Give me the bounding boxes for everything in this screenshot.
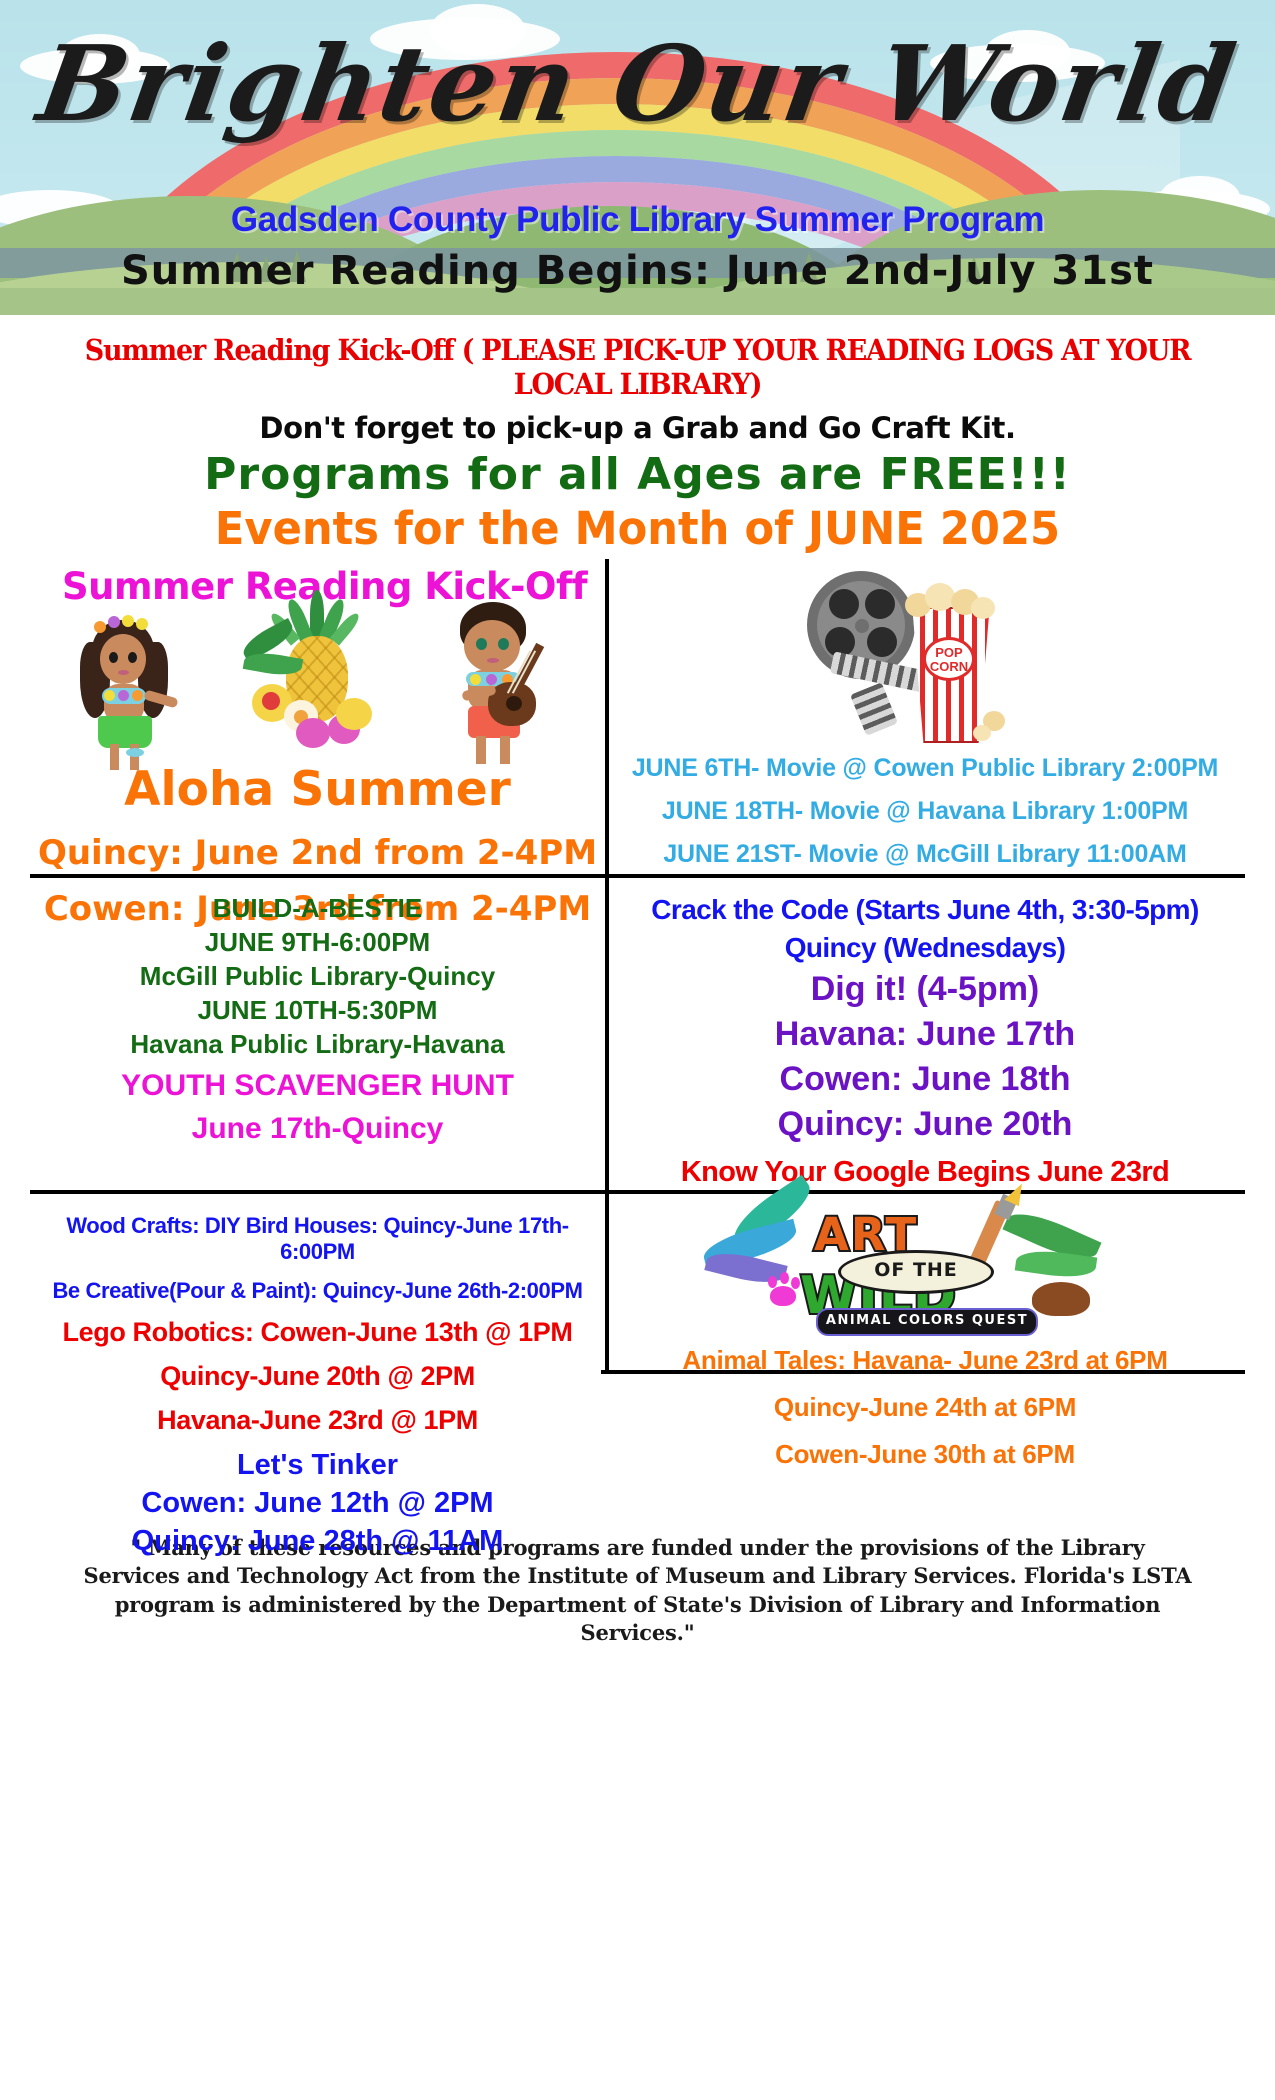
crack-code-line: Quincy (Wednesdays) — [605, 932, 1245, 964]
paw-print-icon — [770, 1286, 796, 1306]
scavenger-hunt-date: June 17th-Quincy — [30, 1112, 605, 1146]
cell-crafts: Wood Crafts: DIY Bird Houses: Quincy-Jun… — [30, 1194, 605, 1524]
brown-blob — [1032, 1282, 1090, 1316]
paw-print-icon — [780, 1272, 789, 1284]
paw-print-icon — [791, 1277, 800, 1289]
events-month-heading: Events for the Month of JUNE 2025 — [26, 502, 1250, 555]
pineapple-icon — [236, 588, 396, 768]
ukulele-boy-icon — [432, 596, 557, 774]
lets-tinker-line: Quincy: June 28th @ 11AM — [30, 1525, 605, 1558]
lego-robotics-line: Havana-June 23rd @ 1PM — [30, 1405, 605, 1436]
poster-header: Brighten Our World Gadsden County Public… — [0, 0, 1275, 315]
lets-tinker-line: Cowen: June 12th @ 2PM — [30, 1487, 605, 1520]
cell-movies: POPCORN JUNE 6TH- Movie @ Cowen Public L… — [605, 559, 1245, 874]
dig-it-line: Quincy: June 20th — [605, 1105, 1245, 1144]
wood-craft-line: Wood Crafts: DIY Bird Houses: Quincy-Jun… — [30, 1213, 605, 1265]
cell-art-of-the-wild: ART WILD OF THE ANIMAL COLORS QUEST Anim… — [605, 1194, 1245, 1524]
lego-robotics-line: Quincy-June 20th @ 2PM — [30, 1361, 605, 1392]
art-of-the-wild-logo: ART WILD OF THE ANIMAL COLORS QUEST — [760, 1204, 1090, 1329]
movie-line: JUNE 18TH- Movie @ Havana Library 1:00PM — [605, 797, 1245, 826]
grid-row-1: Summer Reading Kick-Off — [30, 559, 1245, 874]
logo-oval-of-the: OF THE — [838, 1250, 994, 1294]
bestie-line: Havana Public Library-Havana — [30, 1029, 605, 1060]
grid-row-2: BUILD-A-BESTIE JUNE 9TH-6:00PM McGill Pu… — [30, 878, 1245, 1190]
intro-block: Summer Reading Kick-Off ( PLEASE PICK-UP… — [0, 315, 1275, 555]
movie-line: JUNE 6TH- Movie @ Cowen Public Library 2… — [605, 754, 1245, 783]
bestie-line: BUILD-A-BESTIE — [30, 893, 605, 924]
know-your-google-line: Know Your Google Begins June 23rd — [605, 1156, 1245, 1189]
cell-crack-the-code: Crack the Code (Starts June 4th, 3:30-5p… — [605, 878, 1245, 1190]
lego-robotics-line: Lego Robotics: Cowen-June 13th @ 1PM — [30, 1317, 605, 1348]
aloha-line: Quincy: June 2nd from 2-4PM — [30, 833, 605, 873]
cell-aloha: Summer Reading Kick-Off — [30, 559, 605, 874]
animal-tales-line: Quincy-June 24th at 6PM — [605, 1392, 1245, 1423]
bestie-line: McGill Public Library-Quincy — [30, 961, 605, 992]
events-grid: Summer Reading Kick-Off — [30, 559, 1245, 1524]
grab-and-go-notice: Don't forget to pick-up a Grab and Go Cr… — [0, 411, 1275, 445]
logo-ribbon-subtitle: ANIMAL COLORS QUEST — [816, 1308, 1038, 1336]
kickoff-notice: Summer Reading Kick-Off ( PLEASE PICK-UP… — [45, 333, 1231, 401]
free-programs-notice: Programs for all Ages are FREE!!! — [0, 449, 1275, 500]
animal-tales-line: Animal Tales: Havana- June 23rd at 6PM — [605, 1345, 1245, 1376]
bestie-line: JUNE 9TH-6:00PM — [30, 927, 605, 958]
page-title: Brighten Our World — [0, 22, 1275, 145]
bestie-line: JUNE 10TH-5:30PM — [30, 995, 605, 1026]
header-dates: Summer Reading Begins: June 2nd-July 31s… — [0, 248, 1275, 294]
cell-build-a-bestie: BUILD-A-BESTIE JUNE 9TH-6:00PM McGill Pu… — [30, 878, 605, 1190]
wood-craft-line: Be Creative(Pour & Paint): Quincy-June 2… — [30, 1278, 605, 1304]
grid-row-3: Wood Crafts: DIY Bird Houses: Quincy-Jun… — [30, 1194, 1245, 1524]
poster-page: Brighten Our World Gadsden County Public… — [0, 0, 1275, 2100]
animal-tales-line: Cowen-June 30th at 6PM — [605, 1439, 1245, 1470]
paw-print-icon — [768, 1276, 777, 1288]
dig-it-line: Cowen: June 18th — [605, 1060, 1245, 1099]
dig-it-line: Havana: June 17th — [605, 1015, 1245, 1054]
scavenger-hunt-title: YOUTH SCAVENGER HUNT — [30, 1069, 605, 1103]
lets-tinker-title: Let's Tinker — [30, 1449, 605, 1482]
movie-line: JUNE 21ST- Movie @ McGill Library 11:00A… — [605, 840, 1245, 869]
hula-girl-icon — [64, 598, 184, 773]
movie-clipart: POPCORN — [805, 565, 1045, 740]
header-subtitle: Gadsden County Public Library Summer Pro… — [0, 200, 1275, 240]
crack-code-line: Crack the Code (Starts June 4th, 3:30-5p… — [605, 894, 1245, 926]
dig-it-line: Dig it! (4-5pm) — [605, 970, 1245, 1009]
aloha-clipart-row — [30, 610, 605, 760]
